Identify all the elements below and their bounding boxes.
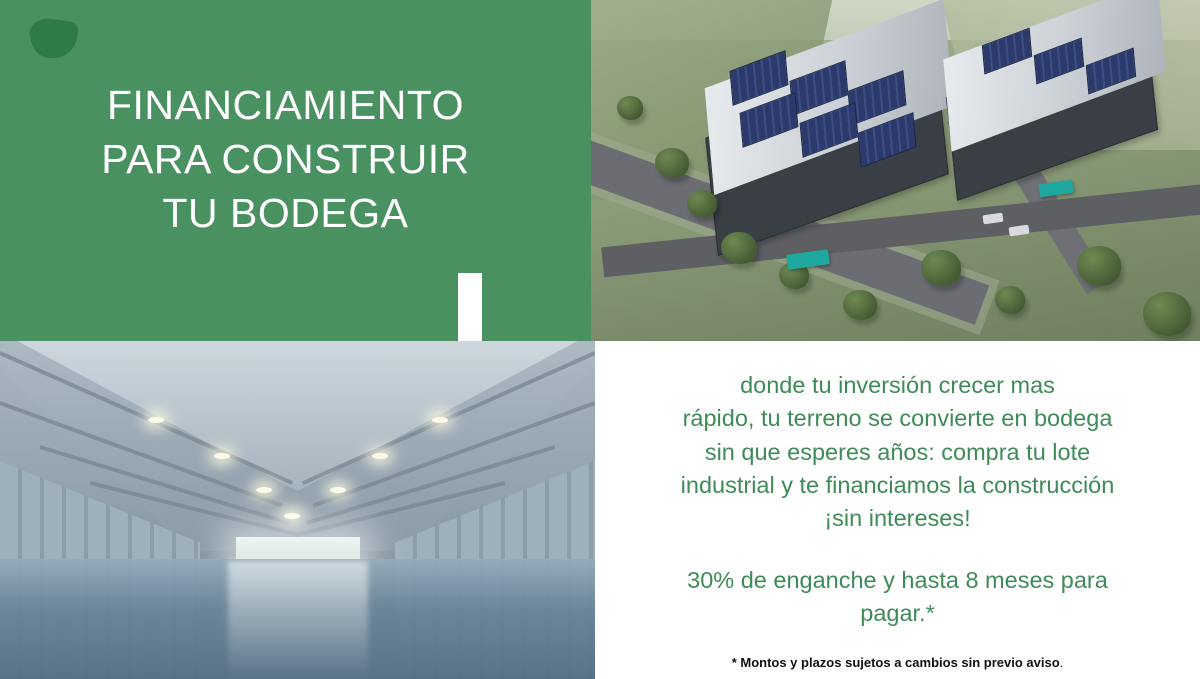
ceiling-lamp-icon <box>284 513 300 519</box>
copy-panel: donde tu inversión crecer mas rápido, tu… <box>595 341 1200 679</box>
tree-icon <box>617 96 643 120</box>
offer-description: donde tu inversión crecer mas rápido, tu… <box>631 369 1164 536</box>
disclaimer-period: . <box>1060 655 1064 670</box>
tree-icon <box>1143 292 1191 336</box>
tree-icon <box>655 148 689 178</box>
disclaimer-text: * Montos y plazos sujetos a cambios sin … <box>732 655 1060 670</box>
ceiling-lamp-icon <box>214 453 230 459</box>
page-title: FINANCIAMIENTO PARA CONSTRUIR TU BODEGA <box>0 78 591 240</box>
ceiling-lamp-icon <box>432 417 448 423</box>
promo-slide: FINANCIAMIENTO PARA CONSTRUIR TU BODEGA <box>0 0 1200 679</box>
leaf-logo-icon <box>24 16 80 60</box>
headline-panel: FINANCIAMIENTO PARA CONSTRUIR TU BODEGA <box>0 0 591 341</box>
tree-icon <box>721 232 757 264</box>
aerial-render-image <box>591 0 1200 341</box>
floor-light-reflection <box>228 561 368 679</box>
offer-terms: 30% de enganche y hasta 8 meses para pag… <box>631 564 1164 631</box>
ceiling-lamp-icon <box>372 453 388 459</box>
disclaimer: * Montos y plazos sujetos a cambios sin … <box>595 655 1200 670</box>
ceiling-lamp-icon <box>330 487 346 493</box>
tree-icon <box>687 190 717 217</box>
ceiling-lamp-icon <box>148 417 164 423</box>
tree-icon <box>921 250 961 286</box>
tree-icon <box>995 286 1025 314</box>
ceiling-lamp-icon <box>256 487 272 493</box>
warehouse-interior-image <box>0 341 595 679</box>
tree-icon <box>843 290 877 320</box>
tree-icon <box>1077 246 1121 286</box>
accent-bar <box>458 273 482 341</box>
